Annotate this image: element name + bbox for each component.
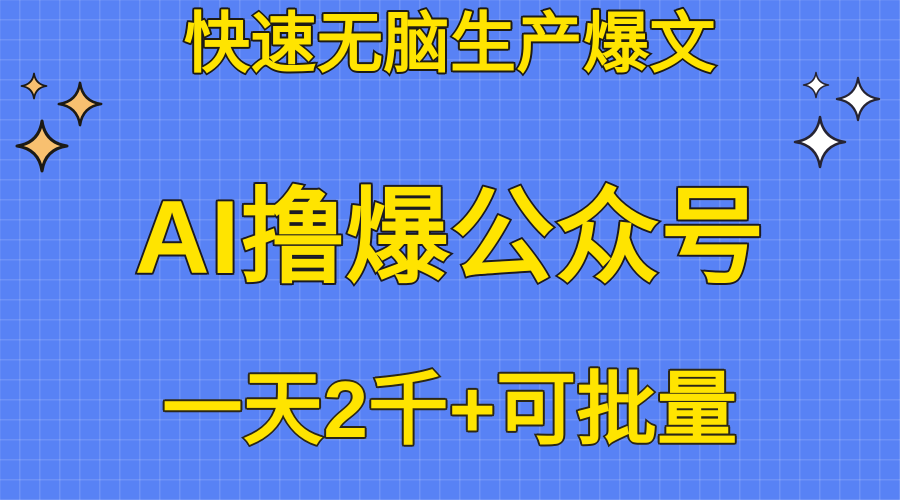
sparkle-left-small-icon [21,73,47,99]
sparkle-right-large-icon [794,116,846,168]
promo-poster: 快速无脑生产爆文 AI撸爆公众号 一天2千+可批量 [0,0,900,500]
headline-top: 快速无脑生产爆文 [0,10,900,76]
headline-bottom: 一天2千+可批量 [0,370,900,450]
sparkle-right-medium-icon [836,77,880,121]
sparkle-left-large-icon [16,120,68,172]
headline-main: AI撸爆公众号 [0,186,900,290]
sparkle-left-medium-icon [58,82,102,126]
